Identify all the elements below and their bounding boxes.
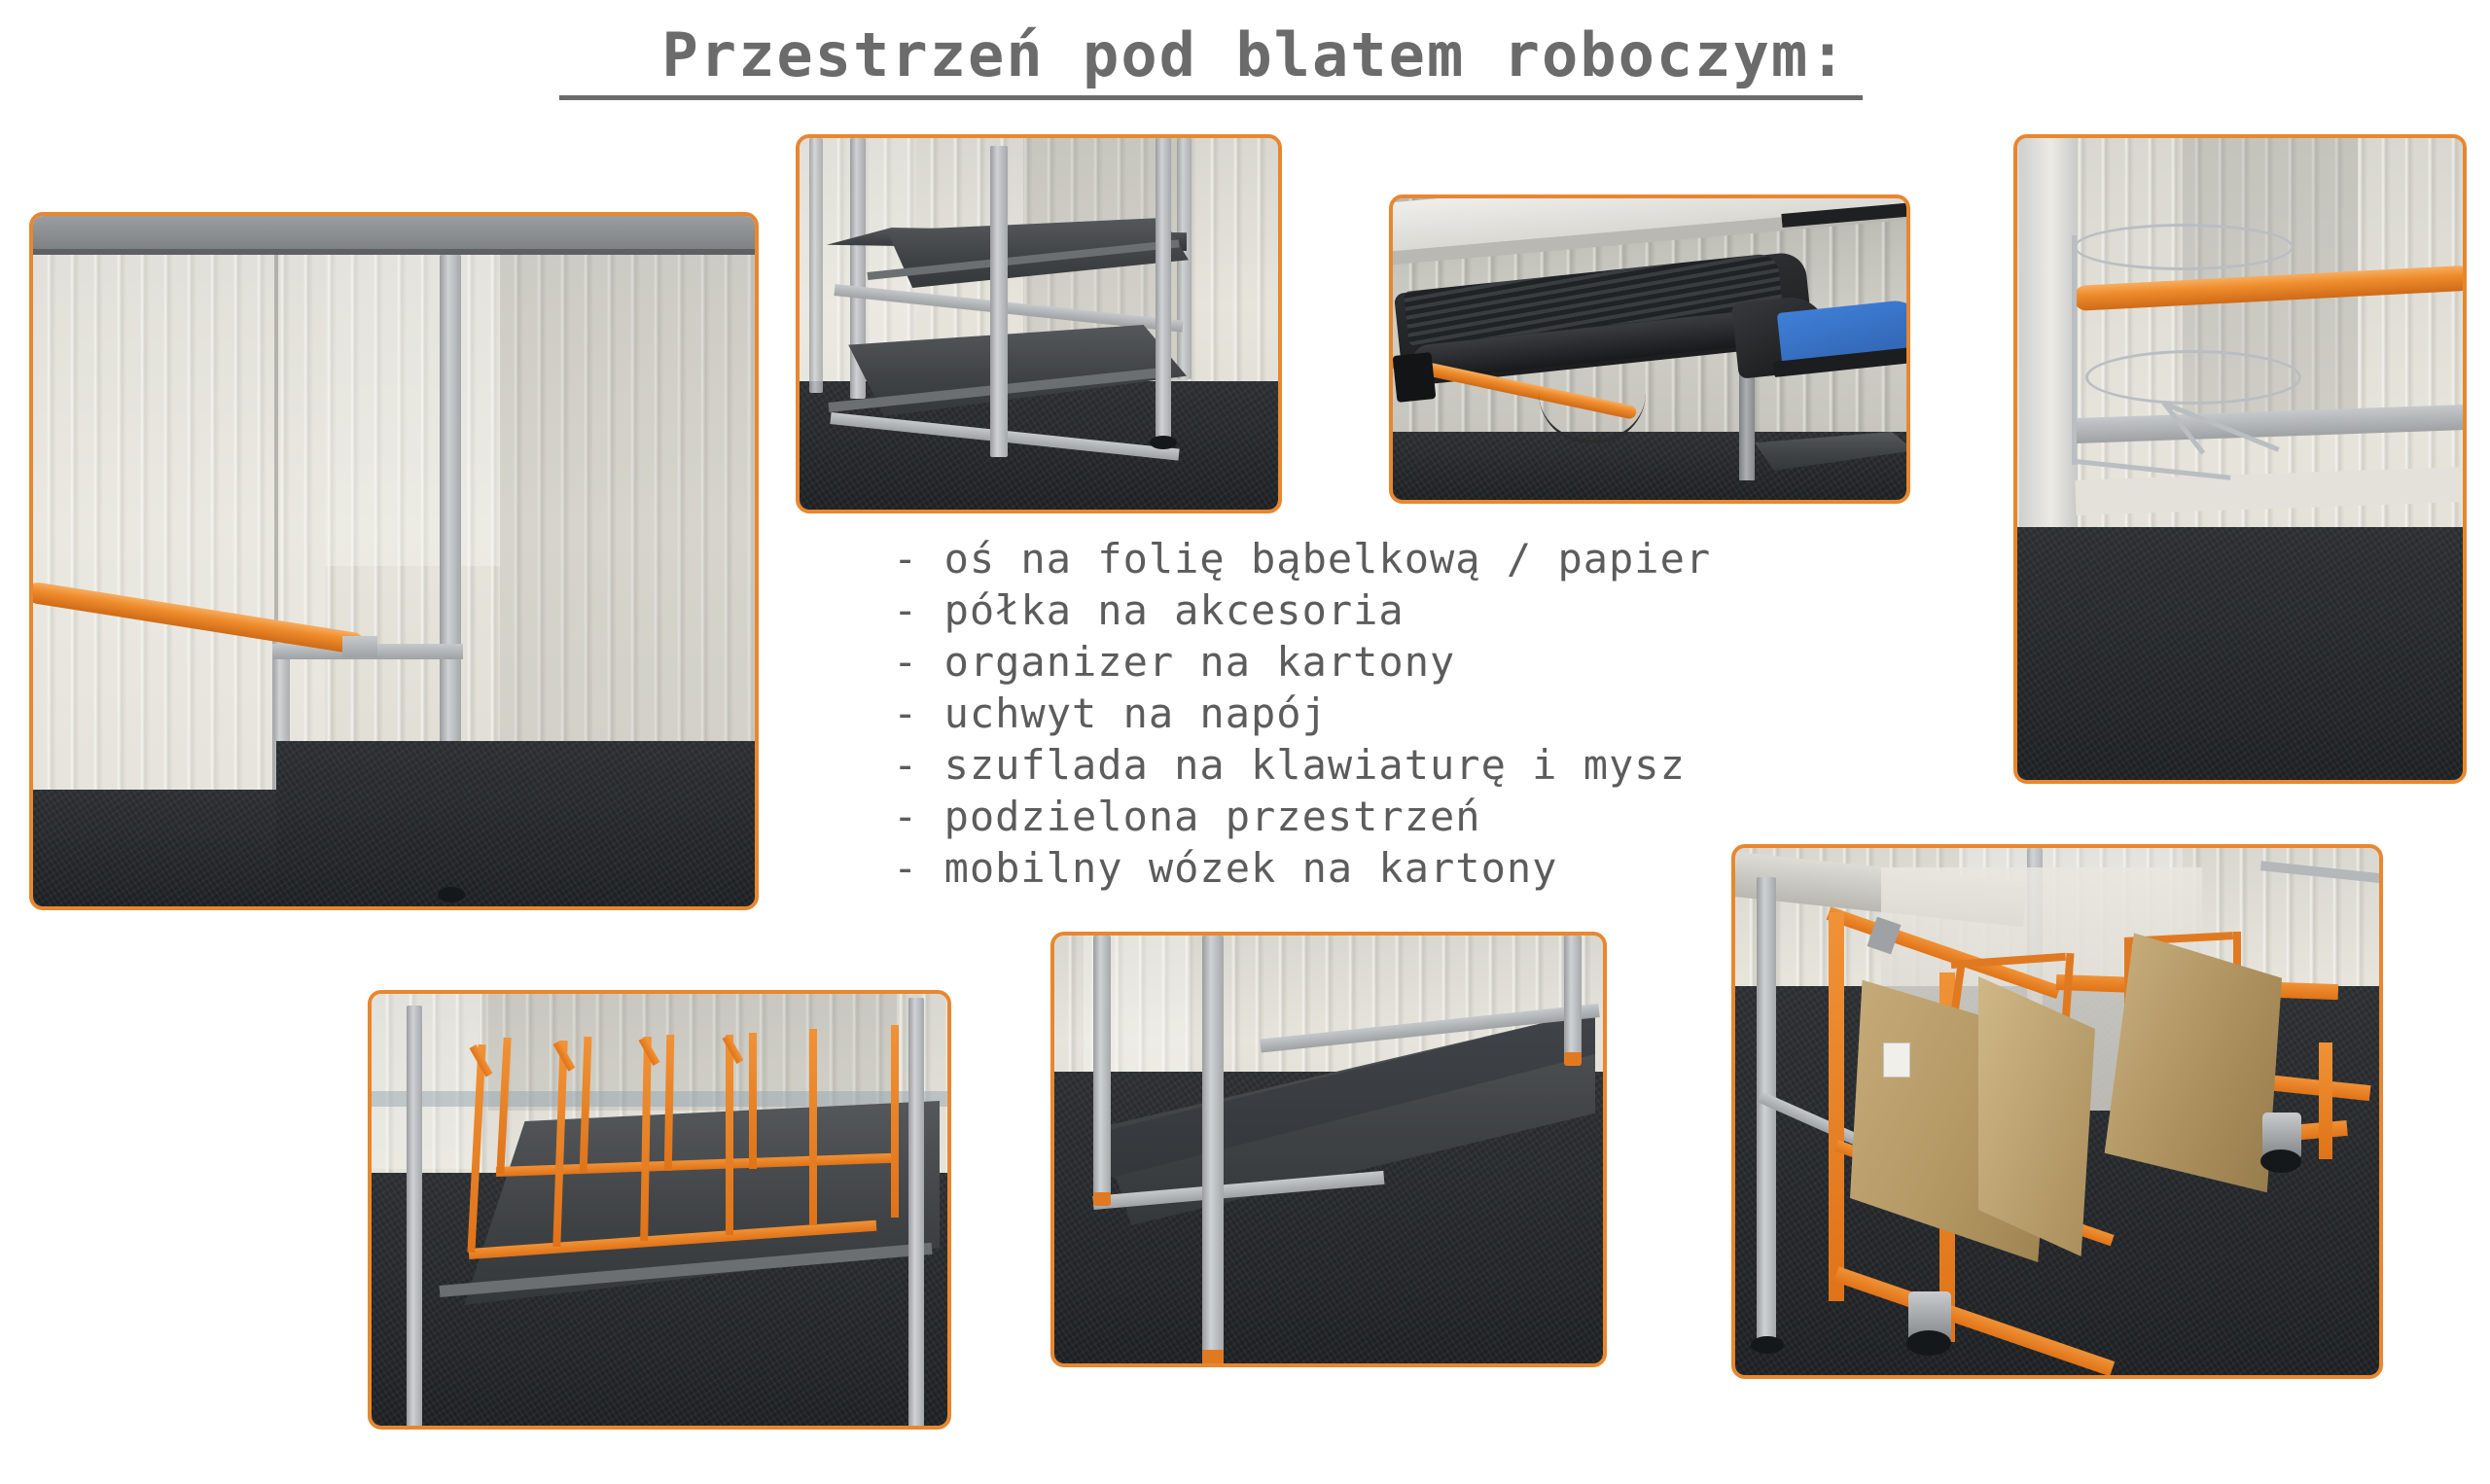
feature-item-3: - uchwyt na napój [893,688,1866,739]
photo-lower-shelf [1050,932,1607,1367]
feature-item-1: - półka na akcesoria [893,584,1866,636]
cup-holder-ring-lower [2085,350,2301,405]
photo-mobile-cart [1731,844,2383,1379]
photo-worktop-frame [29,212,759,910]
foot-cap-center [1202,1350,1224,1363]
page-title: Przestrzeń pod blatem roboczym: [545,19,1965,90]
photo-keyboard-drawer [1389,194,1910,504]
collage-canvas: Przestrzeń pod blatem roboczym: [0,0,2490,1484]
cup-holder-ring-upper [2074,224,2294,270]
feature-item-2: - organizer na kartony [893,636,1866,688]
foot-cap-right [1564,1052,1582,1066]
foot-cap-left [1093,1192,1111,1206]
photo-cup-holder [2013,134,2467,784]
feature-item-0: - oś na folię bąbelkową / papier [893,533,1866,584]
feature-item-6: - mobilny wózek na kartony [893,842,1866,894]
title-underline [559,95,1863,100]
photo-carton-organizer [368,990,951,1430]
photo-shelf-unit [796,134,1282,513]
feature-item-4: - szuflada na klawiaturę i mysz [893,739,1866,791]
feature-list: - oś na folię bąbelkową / papier - półka… [893,533,1866,894]
feature-item-5: - podzielona przestrzeń [893,791,1866,842]
